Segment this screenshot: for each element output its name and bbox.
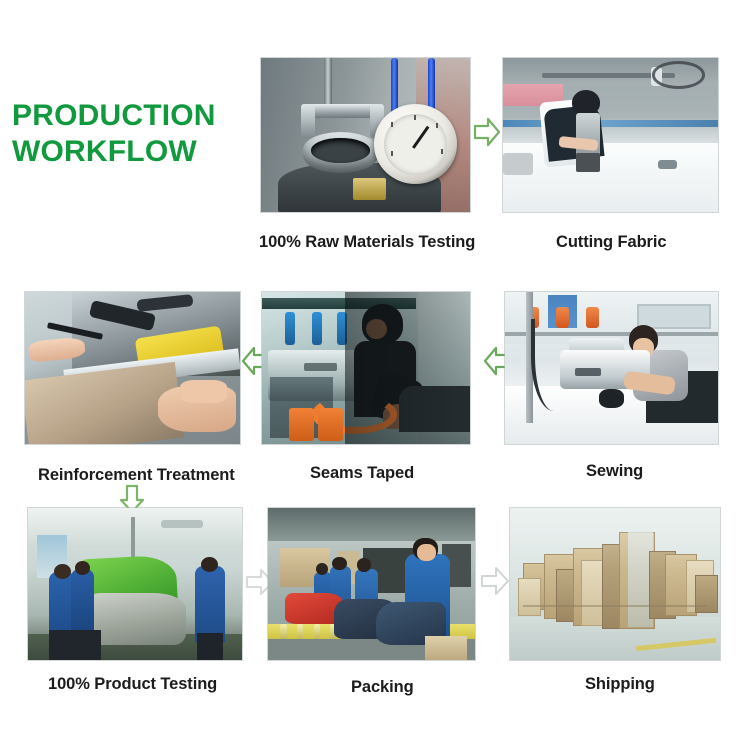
production-workflow-infographic: PRODUCTION WORKFLOW [0, 0, 750, 750]
step-image-sewing [505, 292, 718, 444]
page-title: PRODUCTION WORKFLOW [12, 98, 252, 170]
step-caption-shipping: Shipping [585, 675, 655, 694]
page-title-line-1: PRODUCTION [12, 99, 216, 132]
step-image-seams-taped [262, 292, 470, 444]
arrow-right-icon-step1-step2 [472, 116, 502, 148]
step-image-raw-materials-testing [261, 58, 470, 212]
step-caption-packing: Packing [351, 678, 414, 697]
step-image-shipping [510, 508, 720, 660]
step-image-packing [268, 508, 475, 660]
step-caption-raw-materials-testing: 100% Raw Materials Testing [259, 233, 475, 252]
step-caption-product-testing: 100% Product Testing [48, 675, 217, 694]
step-image-reinforcement-treatment [25, 292, 240, 444]
page-title-line-2: WORKFLOW [12, 134, 252, 170]
step-caption-sewing: Sewing [586, 462, 643, 481]
step-image-product-testing [28, 508, 242, 660]
arrow-right-icon-step7-step8 [479, 564, 511, 598]
step-caption-seams-taped: Seams Taped [310, 464, 414, 483]
step-image-cutting-fabric [503, 58, 718, 212]
step-caption-reinforcement-treatment: Reinforcement Treatment [38, 466, 235, 485]
step-caption-cutting-fabric: Cutting Fabric [556, 233, 666, 252]
